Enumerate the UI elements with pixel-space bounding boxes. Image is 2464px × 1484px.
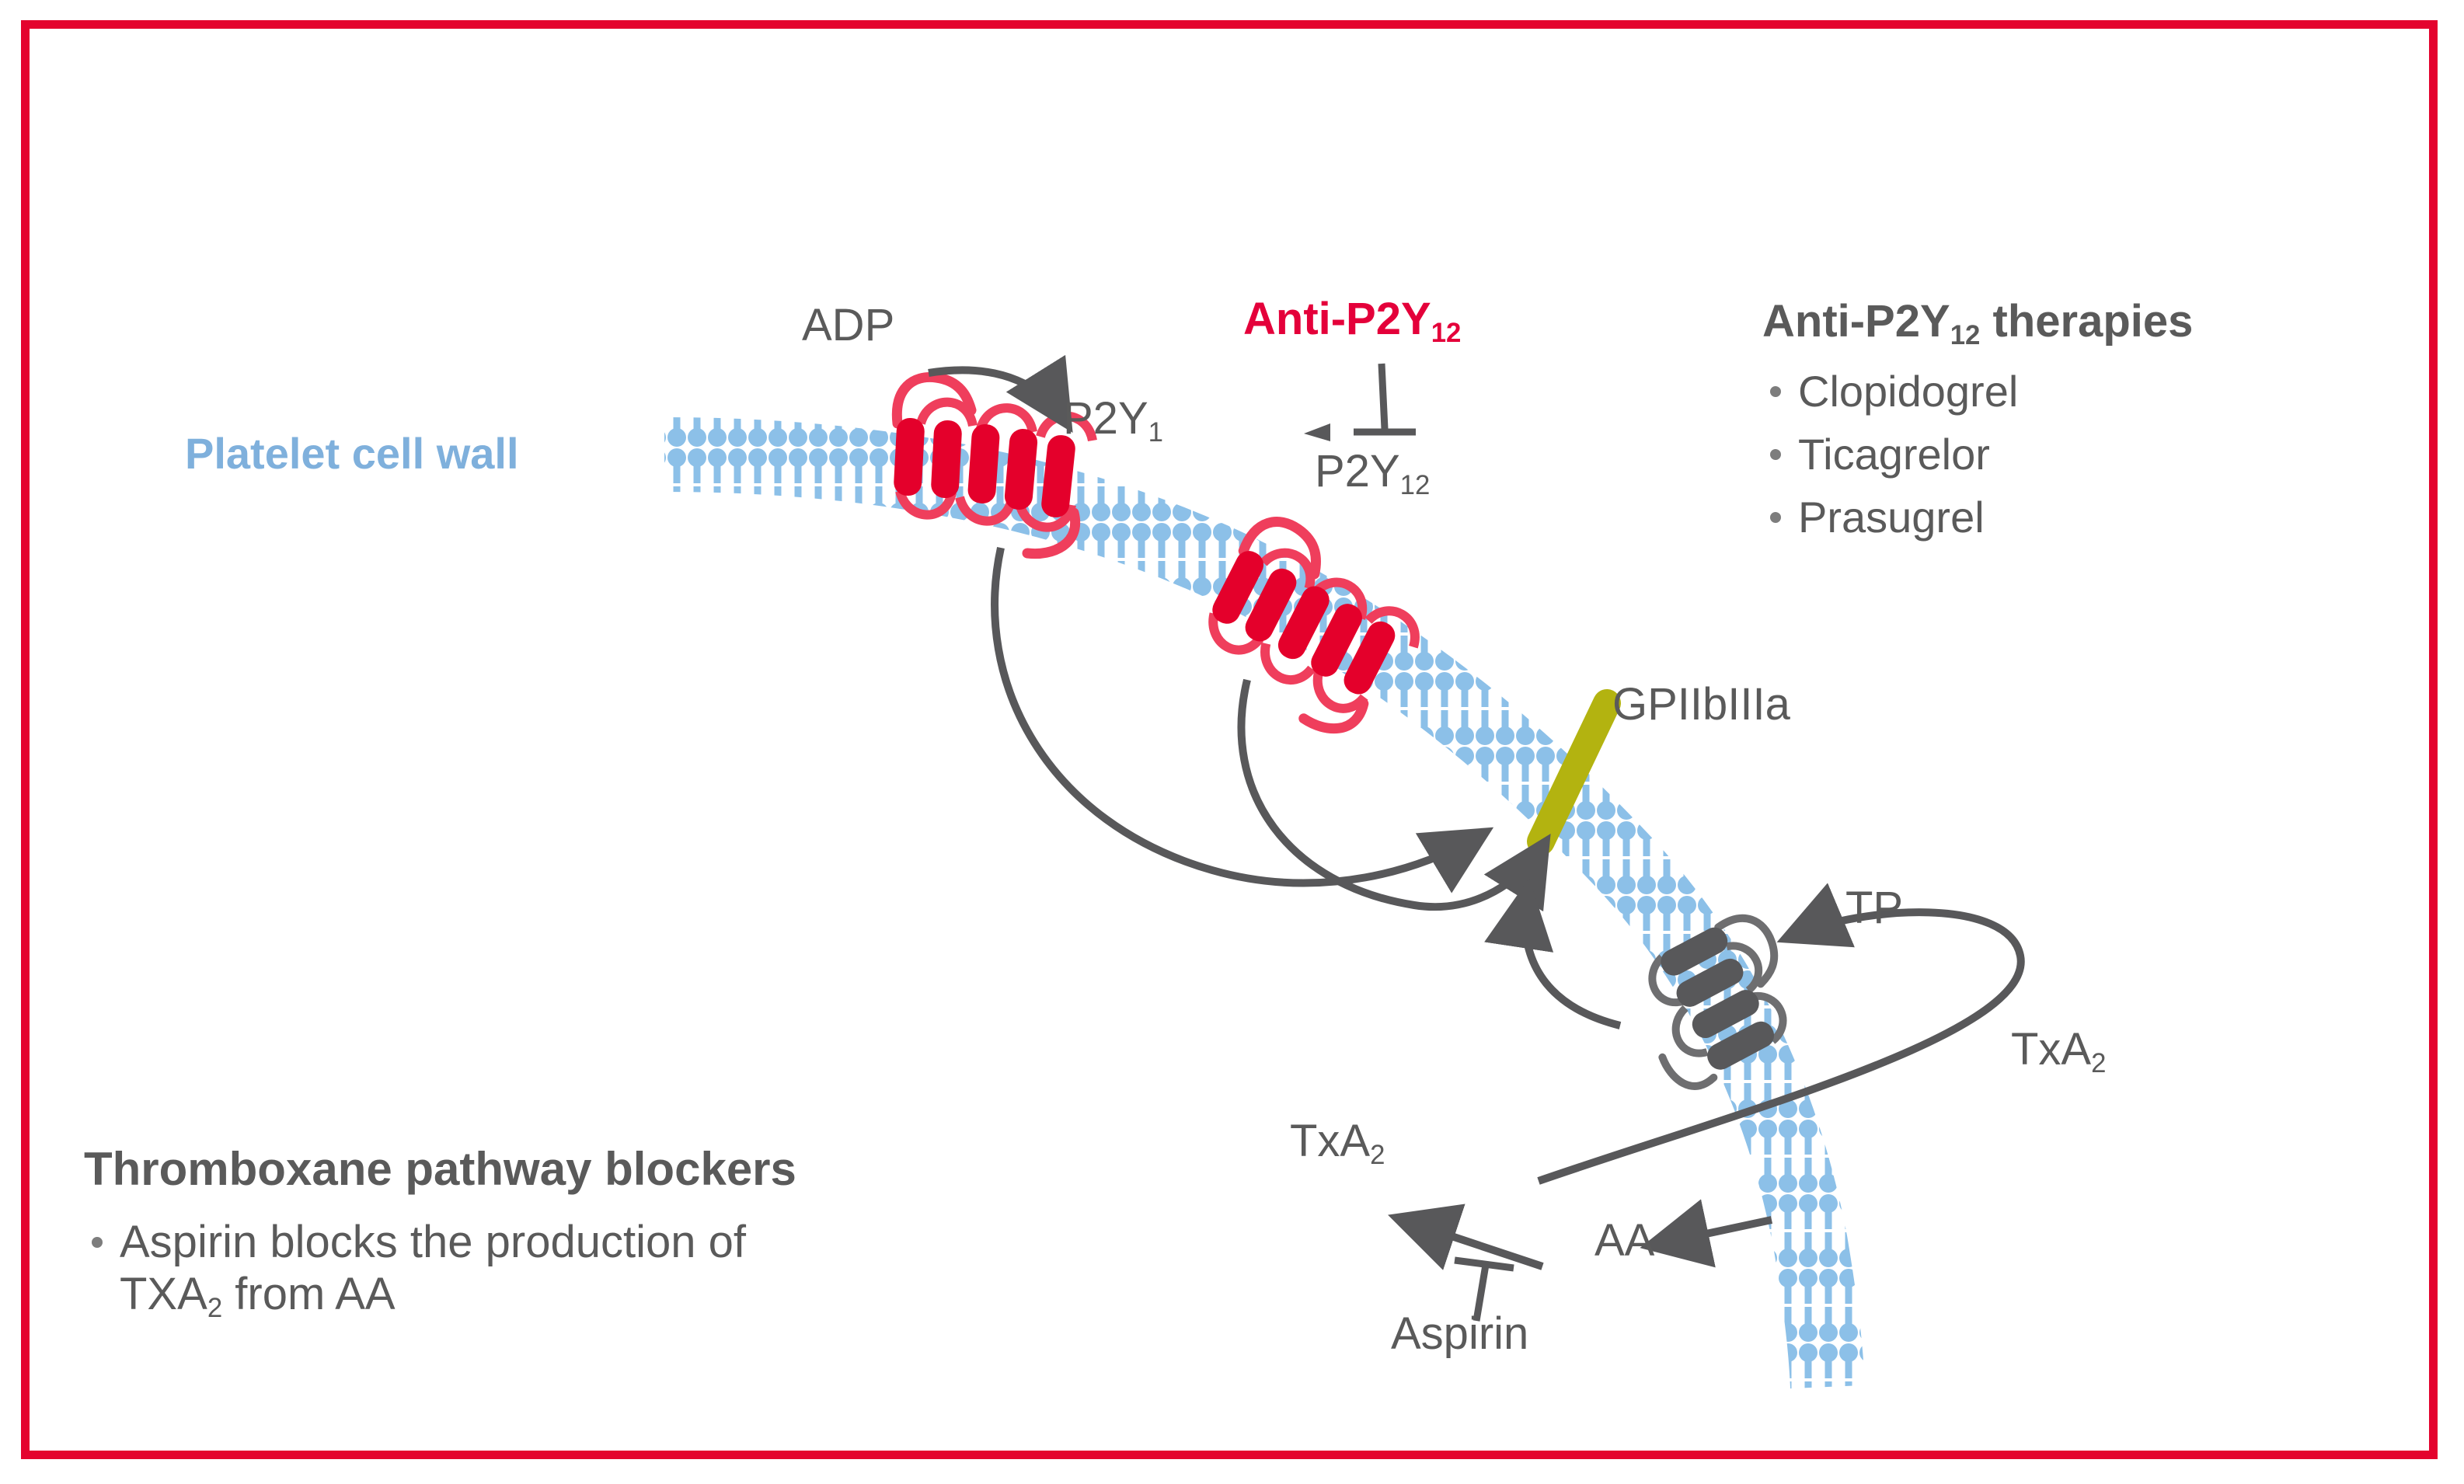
- adp-label: ADP: [802, 303, 894, 348]
- txa2-right-text: TxA: [2011, 1024, 2091, 1075]
- thromboxane-heading: Thromboxane pathway blockers: [84, 1142, 1172, 1196]
- thromboxane-bullet-line2-post: from AA: [222, 1269, 395, 1319]
- anti-p2y12-therapies-panel: Anti-P2Y12 therapies Clopidogrel Ticagre…: [1762, 295, 2400, 555]
- arrow-tp-to-gpiibiiia: [1525, 894, 1620, 1026]
- txa2-left-label: TxA2: [1290, 1119, 1385, 1164]
- p2y12-subscript: 12: [1400, 470, 1431, 500]
- therapies-heading: Anti-P2Y12 therapies: [1762, 295, 2400, 347]
- anti-p2y12-text: Anti-P2Y: [1243, 294, 1431, 344]
- list-item: Clopidogrel: [1762, 366, 2400, 416]
- txa2-right-subscript: 2: [2091, 1048, 2106, 1078]
- txa2-left-text: TxA: [1290, 1116, 1370, 1166]
- tp-label: TP: [1845, 886, 1903, 931]
- anti-p2y12-inhibition-symbol: [1304, 364, 1416, 441]
- thromboxane-bullet-line2-pre: TXA: [120, 1269, 207, 1319]
- list-item: Ticagrelor: [1762, 429, 2400, 479]
- p2y12-label: P2Y12: [1315, 449, 1430, 494]
- aa-label: AA: [1594, 1218, 1654, 1263]
- p2y12-text: P2Y: [1315, 446, 1400, 496]
- p2y1-label-text: P2Y: [1063, 393, 1148, 444]
- p2y1-subscript: 1: [1148, 417, 1163, 448]
- thromboxane-bullet-subscript: 2: [207, 1293, 222, 1323]
- gpiibiiia-label: GPIIbIIIa: [1612, 682, 1790, 727]
- txa2-left-subscript: 2: [1370, 1140, 1385, 1170]
- platelet-cell-wall-label: Platelet cell wall: [185, 432, 519, 476]
- therapies-list: Clopidogrel Ticagrelor Prasugrel: [1762, 366, 2400, 542]
- figure-canvas: Platelet cell wall ADP P2Y1 Anti-P2Y12 P…: [0, 0, 2464, 1484]
- txa2-right-label: TxA2: [2011, 1027, 2106, 1072]
- anti-p2y12-subscript: 12: [1431, 318, 1462, 348]
- therapies-heading-subscript: 12: [1950, 320, 1981, 350]
- list-item: Aspirin blocks the production of TXA2 fr…: [84, 1216, 1172, 1320]
- aspirin-label: Aspirin: [1391, 1312, 1528, 1357]
- p2y1-label: P2Y1: [1063, 396, 1163, 441]
- thromboxane-blockers-panel: Thromboxane pathway blockers Aspirin blo…: [84, 1142, 1172, 1332]
- thromboxane-bullet-line1: Aspirin blocks the production of: [120, 1217, 746, 1267]
- thromboxane-list: Aspirin blocks the production of TXA2 fr…: [84, 1216, 1172, 1320]
- therapies-heading-tail: therapies: [1980, 296, 2193, 347]
- arrow-membrane-to-aa: [1655, 1220, 1772, 1245]
- list-item: Prasugrel: [1762, 492, 2400, 542]
- therapies-heading-main: Anti-P2Y: [1762, 296, 1950, 347]
- anti-p2y12-label: Anti-P2Y12: [1243, 297, 1461, 342]
